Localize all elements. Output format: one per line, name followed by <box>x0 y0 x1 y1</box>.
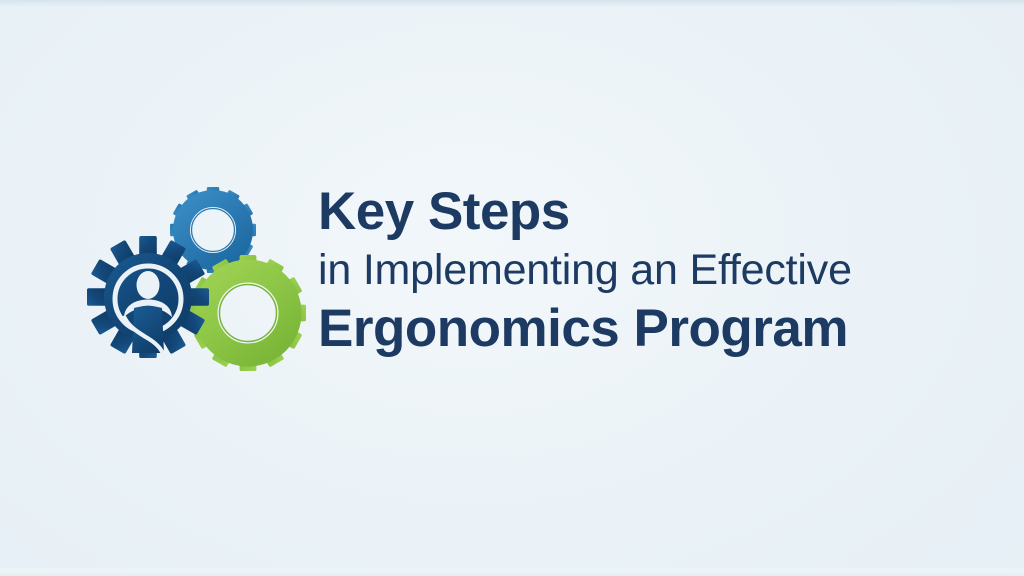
frame-top-band <box>0 0 1024 7</box>
frame-bottom-band <box>0 567 1024 576</box>
title-line-2: in Implementing an Effective <box>318 243 978 297</box>
title-line-3: Ergonomics Program <box>318 297 978 361</box>
title-line-1: Key Steps <box>318 181 978 243</box>
slide-title-block: Key Steps in Implementing an Effective E… <box>318 181 978 361</box>
title-slide: Key Steps in Implementing an Effective E… <box>0 0 1024 576</box>
gear-cluster-graphic <box>72 176 328 382</box>
